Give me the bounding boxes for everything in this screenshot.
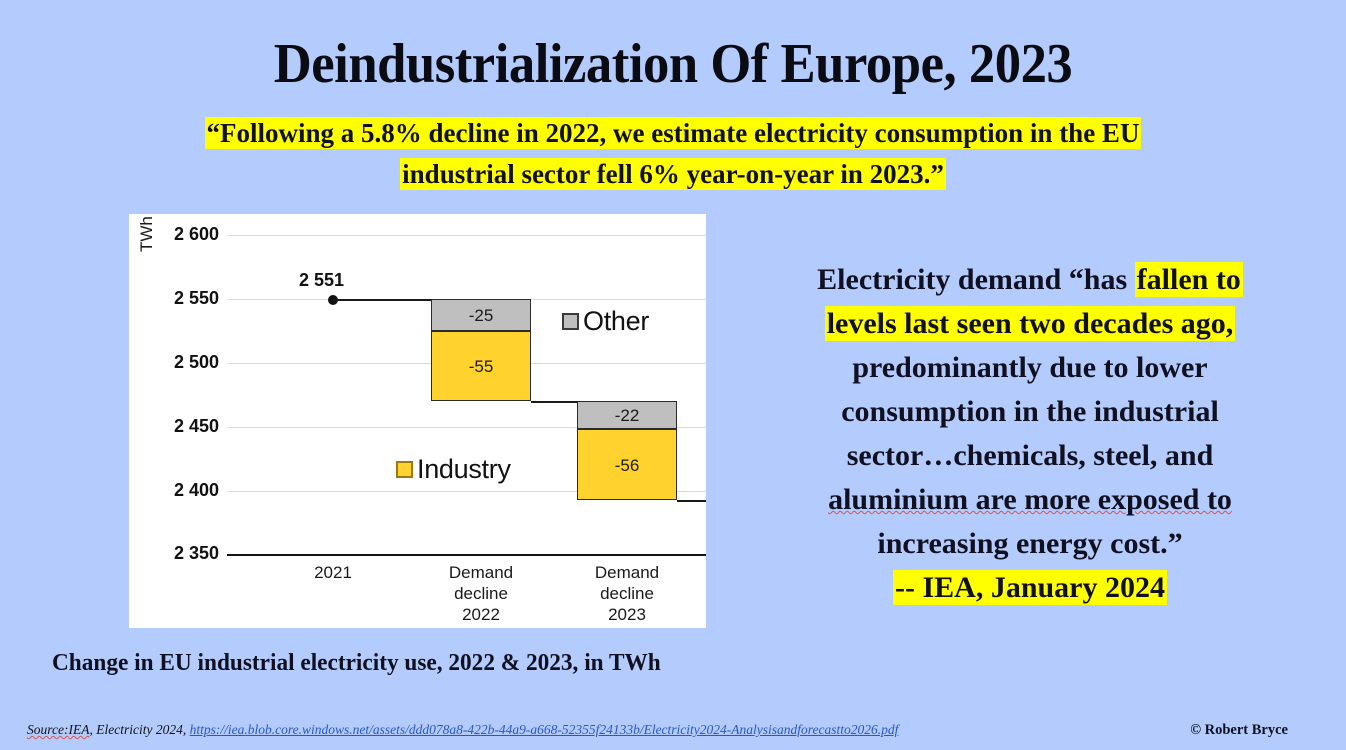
bar-2023-other: -22 bbox=[577, 401, 677, 429]
x-tick-demand-decline-2022: Demand decline 2022 bbox=[431, 562, 531, 625]
legend-swatch-industry-icon bbox=[396, 461, 413, 478]
bar-2023-industry-value: -56 bbox=[578, 456, 676, 476]
page-title: Deindustrialization Of Europe, 2023 bbox=[40, 34, 1305, 94]
bar-2022-industry-value: -55 bbox=[432, 357, 530, 377]
y-tick-2450: 2 450 bbox=[131, 416, 219, 437]
legend-label-industry: Industry bbox=[417, 454, 511, 485]
chart-plot-area: TWh 2 600 2 550 2 500 2 450 2 400 2 350 … bbox=[129, 214, 706, 628]
quote-line-1-plain: Electricity demand “has bbox=[817, 263, 1134, 296]
chart-panel: TWh 2 600 2 550 2 500 2 450 2 400 2 350 … bbox=[129, 214, 706, 628]
bar-2022-industry: -55 bbox=[431, 331, 531, 401]
x-tick-2021-line1: 2021 bbox=[283, 562, 383, 583]
bar-2022-other: -25 bbox=[431, 299, 531, 331]
x-tick-2023-line1: Demand bbox=[577, 562, 677, 583]
x-tick-2022-line2: decline bbox=[431, 583, 531, 604]
quote-line-4: consumption in the industrial bbox=[841, 395, 1219, 428]
copyright-credit: © Robert Bryce bbox=[1190, 722, 1288, 739]
x-tick-demand-decline-2023: Demand decline 2023 bbox=[577, 562, 677, 625]
source-url-link[interactable]: https://iea.blob.core.windows.net/assets… bbox=[190, 722, 899, 737]
source-org: IEA bbox=[68, 722, 89, 737]
subtitle-quote: “Following a 5.8% decline in 2022, we es… bbox=[40, 113, 1306, 195]
x-tick-2023-line3: 2023 bbox=[577, 604, 677, 625]
slide-canvas: Deindustrialization Of Europe, 2023 “Fol… bbox=[0, 0, 1346, 750]
source-comma: , bbox=[183, 722, 186, 737]
quote-line-3: predominantly due to lower bbox=[852, 351, 1207, 384]
x-tick-2023-line2: decline bbox=[577, 583, 677, 604]
bar-2022-other-value: -25 bbox=[432, 306, 530, 326]
x-tick-2022-line3: 2022 bbox=[431, 604, 531, 625]
quote-line-7: increasing energy cost.” bbox=[877, 527, 1182, 560]
source-rest: , Electricity 2024 bbox=[89, 722, 182, 737]
quote-attribution: -- IEA, January 2024 bbox=[893, 570, 1167, 605]
bar-2023-industry: -56 bbox=[577, 429, 677, 500]
subtitle-line-2: industrial sector fell 6% year-on-year i… bbox=[400, 158, 946, 190]
quote-line-5: sector…chemicals, steel, and bbox=[847, 439, 1214, 472]
connector-2021-to-2022 bbox=[333, 299, 431, 301]
legend-item-other: Other bbox=[562, 306, 649, 337]
chart-caption: Change in EU industrial electricity use,… bbox=[52, 650, 661, 677]
y-tick-2400: 2 400 bbox=[131, 480, 219, 501]
legend-label-other: Other bbox=[583, 306, 649, 337]
connector-2023-trailing bbox=[677, 500, 706, 502]
x-axis-line bbox=[227, 554, 706, 556]
y-tick-2500: 2 500 bbox=[131, 352, 219, 373]
y-tick-2350: 2 350 bbox=[131, 543, 219, 564]
quote-line-6: aluminium are more exposed to bbox=[828, 483, 1232, 516]
y-tick-2550: 2 550 bbox=[131, 288, 219, 309]
source-line: Source:IEA, Electricity 2024, https://ie… bbox=[27, 722, 898, 738]
quote-line-1-highlight: fallen to bbox=[1135, 262, 1243, 297]
start-point-label: 2 551 bbox=[299, 270, 344, 291]
subtitle-line-1: “Following a 5.8% decline in 2022, we es… bbox=[205, 117, 1142, 149]
connector-2022-to-2023 bbox=[531, 401, 577, 403]
bar-2023-other-value: -22 bbox=[578, 406, 676, 426]
legend-swatch-other-icon bbox=[562, 313, 579, 330]
legend-item-industry: Industry bbox=[396, 454, 511, 485]
y-tick-2600: 2 600 bbox=[131, 224, 219, 245]
iea-quote-block: Electricity demand “has fallen to levels… bbox=[756, 258, 1304, 610]
source-prefix: Source: bbox=[27, 722, 68, 737]
x-tick-2021: 2021 bbox=[283, 562, 383, 583]
quote-line-2-highlight: levels last seen two decades ago, bbox=[825, 306, 1236, 341]
gridline-2600 bbox=[227, 235, 706, 236]
x-tick-2022-line1: Demand bbox=[431, 562, 531, 583]
